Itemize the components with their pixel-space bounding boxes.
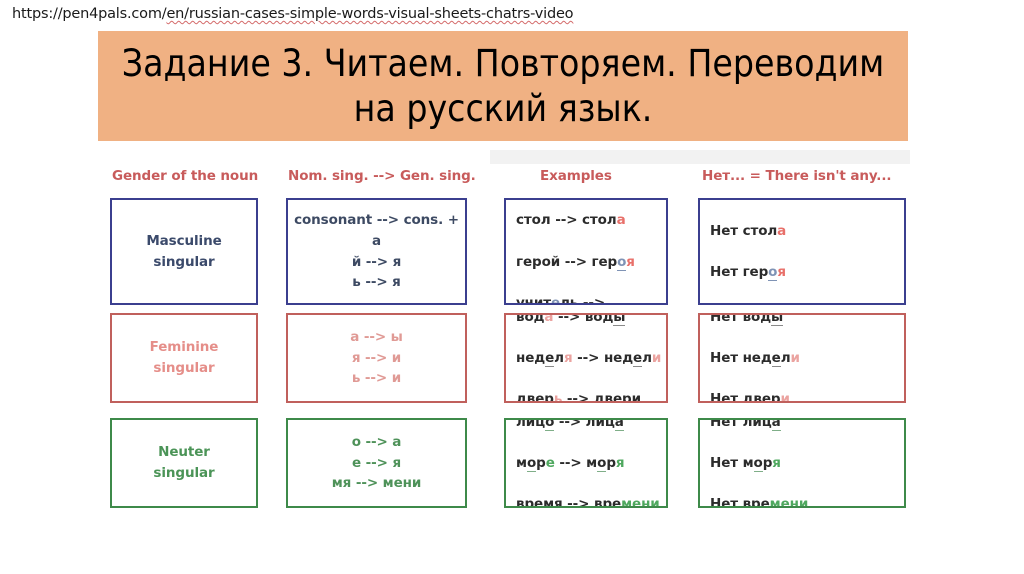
slide-title-banner: Задание 3. Читаем. Повторяем. Переводим … xyxy=(98,31,908,141)
url-prefix: https://pen4pals.com/ xyxy=(12,6,166,22)
gender-label-masculine: Masculine singular xyxy=(146,231,221,272)
rules-text-neuter: о --> а е --> я мя --> мени xyxy=(332,432,422,494)
negative-row: Нет времени xyxy=(710,494,904,508)
page-title: Задание 3. Читаем. Повторяем. Переводим … xyxy=(112,41,894,131)
example-row: неделя --> недели xyxy=(516,348,666,369)
example-row: стол --> стола xyxy=(516,210,666,231)
cell-negatives-neuter: Нет лица Нет моря Нет времени xyxy=(698,418,906,508)
negative-row: Нет двери xyxy=(710,389,904,403)
url-spellchecked-part: en/russian-cases-simple-words-visual-she… xyxy=(166,6,573,22)
cell-negatives-feminine: Нет воды Нет недели Нет двери xyxy=(698,313,906,403)
negative-row: Нет недели xyxy=(710,348,904,369)
rules-text-feminine: а --> ы я --> и ь --> и xyxy=(350,327,403,389)
example-row: учитель --> учителя xyxy=(516,293,666,305)
example-row: герой --> героя xyxy=(516,252,666,273)
column-header-gender: Gender of the noun xyxy=(112,168,258,184)
cell-rules-feminine: а --> ы я --> и ь --> и xyxy=(286,313,467,403)
cell-examples-masculine: брат --> брата стол --> стола герой --> … xyxy=(504,198,668,305)
gender-label-neuter: Neuter singular xyxy=(153,442,214,483)
cell-gender-neuter: Neuter singular xyxy=(110,418,258,508)
grammar-table-sheet: Gender of the noun Nom. sing. --> Gen. s… xyxy=(0,150,1024,550)
sheet-tint-band xyxy=(490,150,910,164)
column-header-examples: Examples xyxy=(540,168,612,184)
cell-gender-masculine: Masculine singular xyxy=(110,198,258,305)
negative-row: Нет воды xyxy=(710,313,904,327)
cell-rules-masculine: consonant --> cons. + а й --> я ь --> я xyxy=(286,198,467,305)
page-url: https://pen4pals.com/en/russian-cases-si… xyxy=(12,6,573,22)
rules-text-masculine: consonant --> cons. + а й --> я ь --> я xyxy=(288,210,465,292)
cell-gender-feminine: Feminine singular xyxy=(110,313,258,403)
cell-examples-neuter: лицо --> лица море --> моря время --> вр… xyxy=(504,418,668,508)
negative-row: Нет учителя xyxy=(710,303,904,305)
negatives-text-masculine: Нет брата Нет стола Нет героя Нет учител… xyxy=(700,198,904,305)
negative-row: Нет лица xyxy=(710,418,904,432)
cell-examples-feminine: вода --> воды неделя --> недели дверь --… xyxy=(504,313,668,403)
negatives-text-neuter: Нет лица Нет моря Нет времени xyxy=(700,418,904,508)
column-header-declension: Nom. sing. --> Gen. sing. xyxy=(288,168,476,184)
negative-row: Нет героя xyxy=(710,262,904,283)
cell-rules-neuter: о --> а е --> я мя --> мени xyxy=(286,418,467,508)
examples-text-feminine: вода --> воды неделя --> недели дверь --… xyxy=(506,313,666,403)
negative-row: Нет стола xyxy=(710,221,904,242)
column-header-negative: Нет... = There isn't any... xyxy=(702,168,891,184)
negative-row: Нет моря xyxy=(710,453,904,474)
examples-text-neuter: лицо --> лица море --> моря время --> вр… xyxy=(506,418,666,508)
gender-label-feminine: Feminine singular xyxy=(150,337,219,378)
negative-row: Нет брата xyxy=(710,198,904,200)
example-row: море --> моря xyxy=(516,453,666,474)
negatives-text-feminine: Нет воды Нет недели Нет двери xyxy=(700,313,904,403)
cell-negatives-masculine: Нет брата Нет стола Нет героя Нет учител… xyxy=(698,198,906,305)
example-row: дверь --> двери xyxy=(516,389,666,403)
example-row: вода --> воды xyxy=(516,313,666,327)
example-row: время --> времени xyxy=(516,494,666,508)
examples-text-masculine: брат --> брата стол --> стола герой --> … xyxy=(506,198,666,305)
example-row: лицо --> лица xyxy=(516,418,666,432)
